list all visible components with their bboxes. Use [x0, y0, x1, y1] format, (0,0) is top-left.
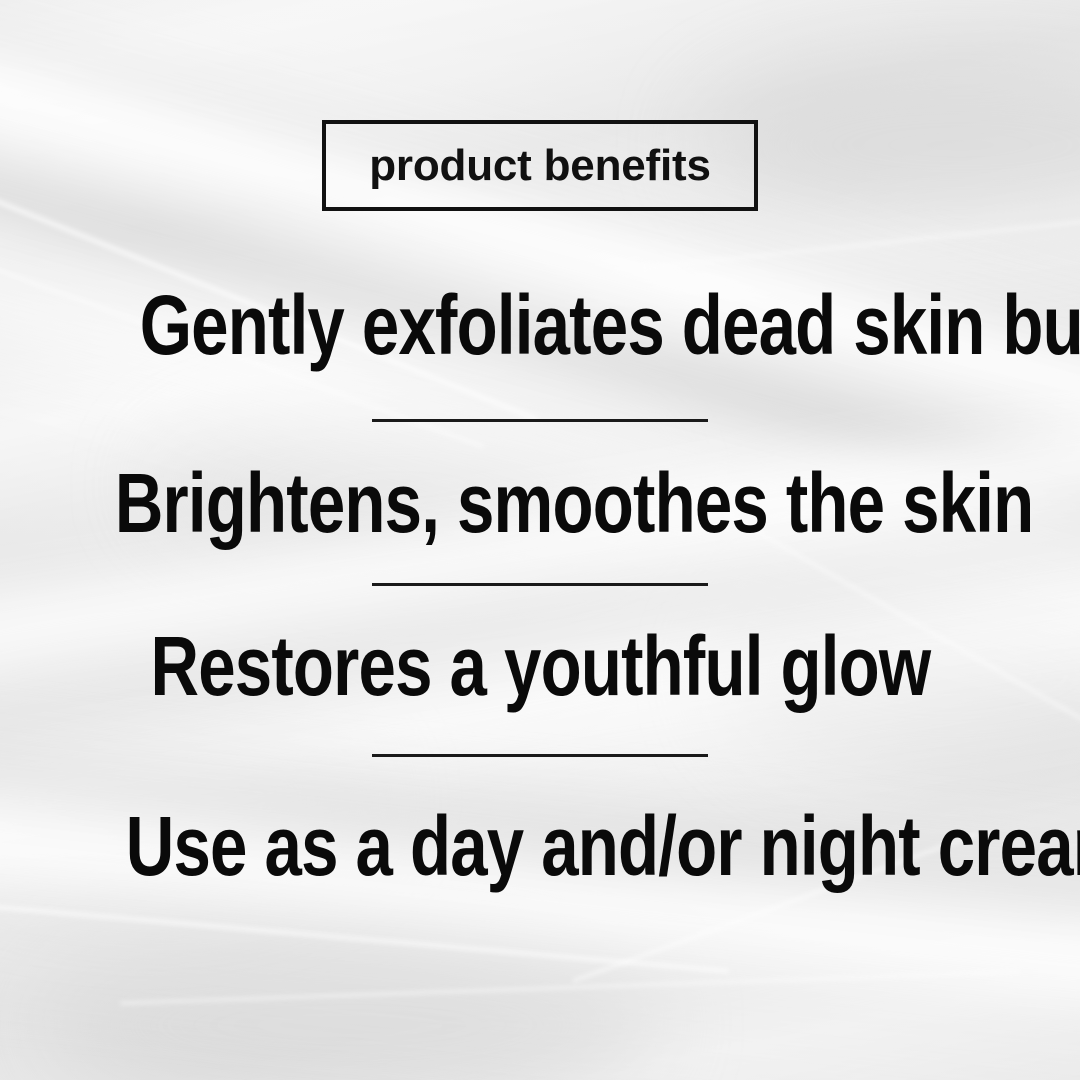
divider-2	[372, 583, 708, 586]
benefit-line-3: Restores a youthful glow	[0, 624, 1080, 708]
section-header-label: product benefits	[369, 144, 710, 188]
benefit-line-4: Use as a day and/or night cream	[0, 804, 1080, 888]
section-header-box: product benefits	[322, 120, 758, 211]
divider-3	[372, 754, 708, 757]
divider-1	[372, 419, 708, 422]
benefit-text: Restores a youthful glow	[150, 624, 930, 708]
product-benefits-graphic: product benefits Gently exfoliates dead …	[0, 0, 1080, 1080]
benefit-text: Gently exfoliates dead skin build up	[140, 283, 1080, 367]
benefit-line-2: Brightens, smoothes the skin	[0, 461, 1080, 545]
benefit-line-1: Gently exfoliates dead skin build up	[0, 283, 1080, 367]
benefit-text: Brightens, smoothes the skin	[115, 461, 1034, 545]
benefit-text: Use as a day and/or night cream	[126, 804, 1080, 888]
